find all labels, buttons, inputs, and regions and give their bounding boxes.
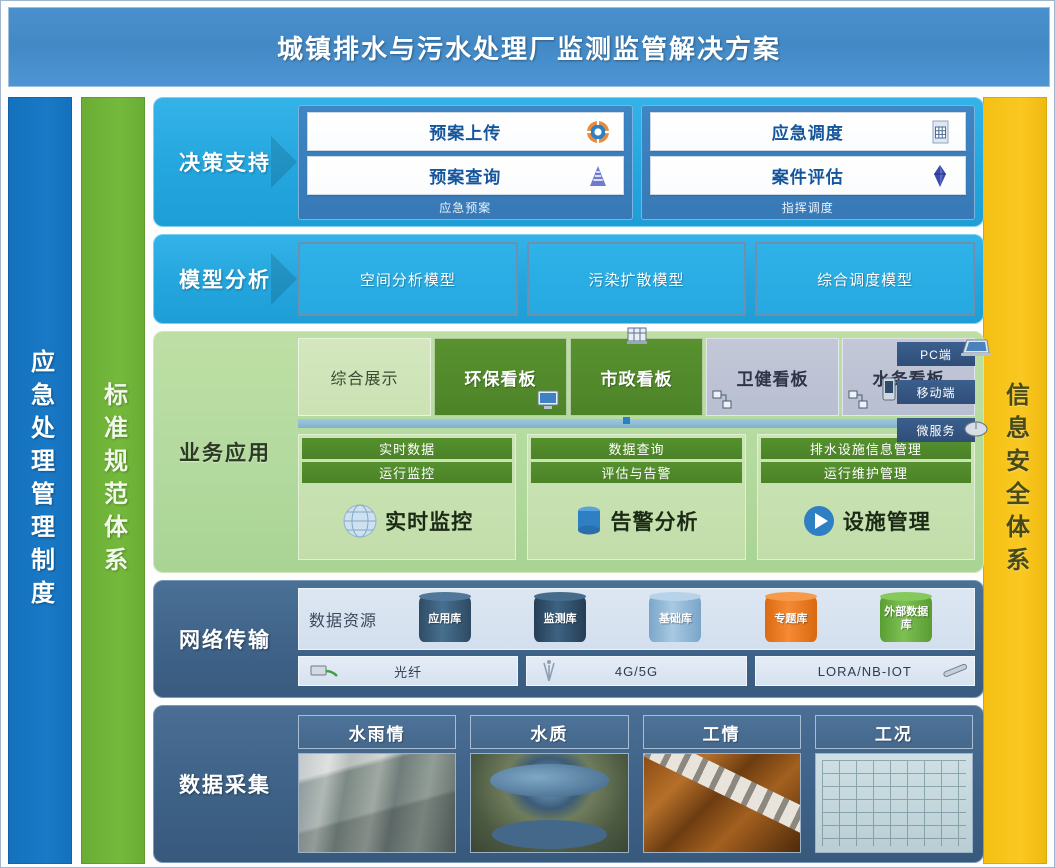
- database-monitoring[interactable]: 监测库: [534, 596, 586, 642]
- transmission-lora-nbiot-label: LORA/NB-IOT: [818, 664, 912, 679]
- pillar-standard-system: 标准规范体系: [81, 97, 145, 864]
- data-card-rainfall-label: 水雨情: [349, 720, 406, 745]
- lifebuoy-icon: [585, 119, 611, 145]
- network-node-icon: [711, 389, 735, 411]
- data-card-engineering[interactable]: 工情: [643, 715, 801, 853]
- canal-photo: [298, 753, 456, 853]
- dashboard-board-row: 综合展示 环保看板 市政看板: [298, 338, 975, 416]
- board-environment[interactable]: 环保看板: [434, 338, 567, 416]
- transmission-lora-nbiot[interactable]: LORA/NB-IOT: [755, 656, 975, 686]
- transmission-cellular[interactable]: 4G/5G: [526, 656, 746, 686]
- terminal-microservice-label: 微服务: [916, 422, 955, 439]
- database-thematic[interactable]: 专题库: [765, 596, 817, 642]
- database-monitoring-label: 监测库: [544, 613, 577, 626]
- diagram-root: 城镇排水与污水处理厂监测监管解决方案 应急处理管理制度 标准规范体系 信息安全体…: [0, 0, 1055, 868]
- layer-data-label: 数据采集: [154, 706, 296, 862]
- board-municipal-label: 市政看板: [601, 365, 673, 390]
- tag-data-query[interactable]: 数据查询: [531, 438, 741, 459]
- database-external[interactable]: 外部数据库: [880, 596, 932, 642]
- business-column-alarm-analysis: 数据查询 评估与告警: [527, 434, 745, 560]
- decision-group-command-dispatch: 应急调度 案件评估: [641, 105, 976, 220]
- model-box-integrated-dispatch[interactable]: 综合调度模型: [755, 242, 975, 316]
- button-plan-upload[interactable]: 预案上传: [307, 112, 624, 151]
- board-health-label: 卫健看板: [737, 365, 809, 390]
- boards-caption: 综合展示: [298, 338, 431, 416]
- tag-realtime-data-label: 实时数据: [379, 439, 435, 458]
- tag-assessment-alarm-label: 评估与告警: [601, 463, 671, 482]
- database-basic[interactable]: 基础库: [649, 596, 701, 642]
- tag-assessment-alarm[interactable]: 评估与告警: [531, 462, 741, 483]
- database-icon: [574, 502, 604, 540]
- data-resource-panel: 数据资源 应用库 监测库 基础库: [298, 588, 975, 650]
- data-card-engineering-label: 工情: [703, 720, 741, 745]
- data-card-water-quality[interactable]: 水质: [470, 715, 628, 853]
- board-divider-rail: [298, 419, 975, 428]
- layer-network-transmission: 网络传输 数据资源 应用库 监测库: [153, 580, 984, 698]
- layer-model-label: 模型分析: [154, 235, 296, 323]
- layer-data-label-text: 数据采集: [179, 769, 271, 799]
- database-application[interactable]: 应用库: [419, 596, 471, 642]
- layer-decision-label: 决策支持: [154, 98, 296, 226]
- tag-operation-maintenance[interactable]: 运行维护管理: [761, 462, 971, 483]
- mouse-icon: [963, 418, 989, 438]
- model-box-spatial-analysis[interactable]: 空间分析模型: [298, 242, 518, 316]
- terminal-pc[interactable]: PC端: [897, 342, 975, 366]
- button-emergency-dispatch-label: 应急调度: [772, 119, 844, 144]
- monitor-icon: [536, 389, 560, 411]
- layer-model-label-text: 模型分析: [179, 264, 271, 294]
- layer-data-acquisition: 数据采集 水雨情 水质 工情 工况: [153, 705, 984, 863]
- antenna-icon: [541, 659, 557, 677]
- sedimentation-tank-photo: [470, 753, 628, 853]
- layer-network-label: 网络传输: [154, 581, 296, 697]
- decision-group-emergency-plan: 预案上传 预案查询: [298, 105, 633, 220]
- tag-operation-monitoring[interactable]: 运行监控: [302, 462, 512, 483]
- tag-operation-monitoring-label: 运行监控: [379, 463, 435, 482]
- tag-operation-maintenance-label: 运行维护管理: [824, 463, 908, 482]
- sensor-device-icon: [940, 661, 970, 679]
- scada-schematic-photo: [815, 753, 973, 853]
- pyramid-icon: [585, 163, 611, 189]
- board-environment-label: 环保看板: [465, 365, 537, 390]
- transmission-row: 光纤 4G/5G LORA/NB-IOT: [298, 656, 975, 686]
- business-title-alarm-analysis[interactable]: 告警分析: [531, 486, 741, 556]
- business-title-facility-management-label: 设施管理: [843, 506, 931, 536]
- button-plan-upload-label: 预案上传: [429, 119, 501, 144]
- arrow-icon: [271, 136, 297, 188]
- layer-stack: 决策支持 预案上传: [153, 97, 984, 862]
- business-column-realtime-monitoring: 实时数据 运行监控: [298, 434, 516, 560]
- business-column-row: 实时数据 运行监控: [298, 434, 975, 560]
- terminal-mobile-label: 移动端: [916, 384, 955, 401]
- database-external-label: 外部数据库: [880, 606, 932, 631]
- layer-network-label-text: 网络传输: [179, 624, 271, 654]
- model-box-pollution-diffusion[interactable]: 污染扩散模型: [527, 242, 747, 316]
- layer-business-label-text: 业务应用: [179, 437, 271, 467]
- fiber-cable-icon: [309, 662, 339, 680]
- board-municipal[interactable]: 市政看板: [570, 338, 703, 416]
- diamond-tree-icon: [927, 163, 953, 189]
- globe-icon: [341, 502, 379, 540]
- transmission-fiber[interactable]: 光纤: [298, 656, 518, 686]
- board-health[interactable]: 卫健看板: [706, 338, 839, 416]
- model-box-integrated-dispatch-label: 综合调度模型: [817, 269, 913, 290]
- data-card-rainfall[interactable]: 水雨情: [298, 715, 456, 853]
- button-case-assessment-label: 案件评估: [772, 163, 844, 188]
- decision-group-command-dispatch-caption: 指挥调度: [650, 200, 967, 217]
- arrow-icon: [271, 253, 297, 305]
- play-circle-icon: [801, 503, 837, 539]
- database-basic-label: 基础库: [659, 613, 692, 626]
- pillar-emergency-management: 应急处理管理制度: [8, 97, 72, 864]
- button-plan-query-label: 预案查询: [429, 163, 501, 188]
- layer-model-analysis: 模型分析 空间分析模型 污染扩散模型 综合调度模型: [153, 234, 984, 324]
- model-box-spatial-analysis-label: 空间分析模型: [360, 269, 456, 290]
- button-plan-query[interactable]: 预案查询: [307, 156, 624, 195]
- terminal-microservice[interactable]: 微服务: [897, 418, 975, 442]
- layer-business-label: 业务应用: [154, 332, 296, 572]
- transmission-fiber-label: 光纤: [394, 662, 422, 681]
- model-box-pollution-diffusion-label: 污染扩散模型: [589, 269, 685, 290]
- button-emergency-dispatch[interactable]: 应急调度: [650, 112, 967, 151]
- tag-realtime-data[interactable]: 实时数据: [302, 438, 512, 459]
- grid-document-icon: [927, 119, 953, 145]
- data-card-operating-condition[interactable]: 工况: [815, 715, 973, 853]
- terminal-badge-group: PC端 移动端: [897, 342, 975, 442]
- business-column-facility-management: 排水设施信息管理 运行维护管理 设施: [757, 434, 975, 560]
- database-application-label: 应用库: [428, 613, 461, 626]
- tag-data-query-label: 数据查询: [608, 439, 664, 458]
- business-title-realtime-monitoring[interactable]: 实时监控: [302, 486, 512, 556]
- business-title-realtime-monitoring-label: 实时监控: [385, 506, 473, 536]
- boards-caption-label: 综合展示: [330, 365, 398, 389]
- layer-business-application: 业务应用 综合展示 环保看板: [153, 331, 984, 573]
- data-card-water-quality-label: 水质: [530, 720, 568, 745]
- rail-knob-icon: [623, 417, 630, 424]
- business-title-facility-management[interactable]: 设施管理: [761, 486, 971, 556]
- business-title-alarm-analysis-label: 告警分析: [610, 506, 698, 536]
- building-icon: [625, 325, 649, 347]
- terminal-pc-label: PC端: [920, 346, 952, 363]
- data-card-operating-condition-label: 工况: [875, 720, 913, 745]
- transmission-cellular-label: 4G/5G: [615, 664, 658, 679]
- decision-group-emergency-plan-caption: 应急预案: [307, 200, 624, 217]
- pipeline-trench-photo: [643, 753, 801, 853]
- pillar-information-security: 信息安全体系: [983, 97, 1047, 864]
- network-node-icon: [847, 389, 871, 411]
- layer-decision-label-text: 决策支持: [179, 147, 271, 177]
- database-thematic-label: 专题库: [774, 613, 807, 626]
- layer-decision-support: 决策支持 预案上传: [153, 97, 984, 227]
- data-resource-label: 数据资源: [309, 607, 377, 631]
- mobile-phone-icon: [881, 377, 899, 397]
- page-title: 城镇排水与污水处理厂监测监管解决方案: [277, 29, 781, 66]
- laptop-icon: [961, 338, 987, 358]
- button-case-assessment[interactable]: 案件评估: [650, 156, 967, 195]
- page-title-bar: 城镇排水与污水处理厂监测监管解决方案: [8, 7, 1050, 87]
- terminal-mobile[interactable]: 移动端: [897, 380, 975, 404]
